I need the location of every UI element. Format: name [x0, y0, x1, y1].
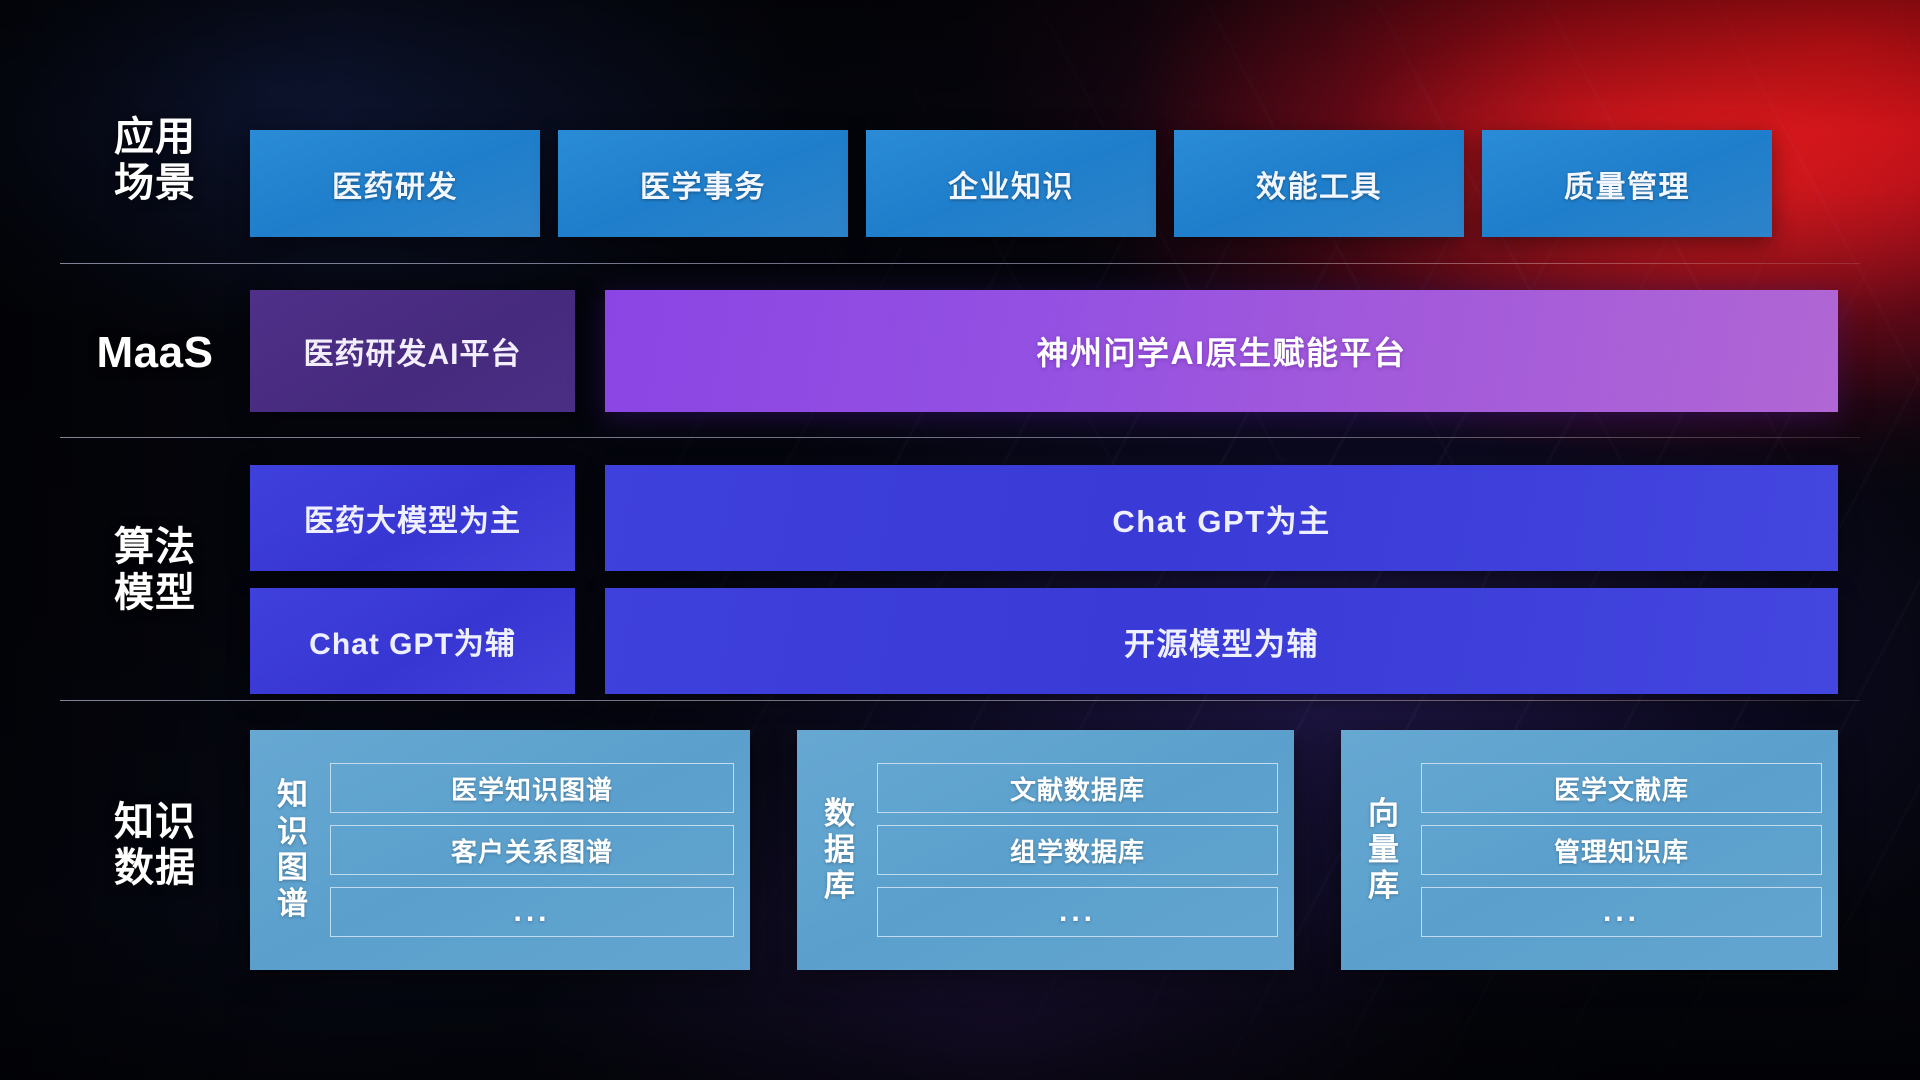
app-box-efficiency-tools[interactable]: 效能工具	[1174, 130, 1464, 237]
knowledge-item-omics-database[interactable]: 组学数据库	[877, 825, 1278, 875]
algorithm-model-boxes: 医药大模型为主 Chat GPT为主 Chat GPT为辅 开源模型为辅	[250, 465, 1838, 694]
knowledge-item-customer-relation-graph[interactable]: 客户关系图谱	[330, 825, 734, 875]
app-box-label: 医学事务	[640, 162, 766, 206]
row-label-maas: MaaS	[60, 328, 250, 378]
maas-box-drug-rd-ai-platform[interactable]: 医药研发AI平台	[250, 290, 575, 412]
knowledge-panel-database[interactable]: 数据库 文献数据库 组学数据库 ...	[797, 730, 1294, 970]
algorithm-box-label: 开源模型为辅	[1124, 619, 1319, 664]
knowledge-item-literature-database[interactable]: 文献数据库	[877, 763, 1278, 813]
divider-after-maas	[60, 437, 1860, 438]
knowledge-panel-item-list: 文献数据库 组学数据库 ...	[871, 763, 1278, 937]
algorithm-model-line-primary: 医药大模型为主 Chat GPT为主	[250, 465, 1838, 571]
knowledge-panel-vertical-label: 向量库	[1353, 796, 1415, 905]
app-box-enterprise-knowledge[interactable]: 企业知识	[866, 130, 1156, 237]
knowledge-panel-vertical-label: 数据库	[809, 796, 871, 905]
knowledge-panel-vector-store[interactable]: 向量库 医学文献库 管理知识库 ...	[1341, 730, 1838, 970]
knowledge-panel-knowledge-graph[interactable]: 知识图谱 医学知识图谱 客户关系图谱 ...	[250, 730, 750, 970]
row-label-application-scenarios: 应用场景	[60, 115, 250, 206]
app-box-label: 效能工具	[1256, 162, 1382, 206]
algorithm-box-pharma-llm-primary[interactable]: 医药大模型为主	[250, 465, 575, 571]
app-box-label: 医药研发	[332, 162, 458, 206]
knowledge-item-more[interactable]: ...	[1421, 887, 1822, 937]
algorithm-box-opensource-secondary[interactable]: 开源模型为辅	[605, 588, 1838, 694]
knowledge-panel-item-list: 医学知识图谱 客户关系图谱 ...	[324, 763, 734, 937]
knowledge-data-panels: 知识图谱 医学知识图谱 客户关系图谱 ... 数据库 文献数据库 组学数据库 .…	[250, 730, 1838, 970]
knowledge-item-management-knowledge-store[interactable]: 管理知识库	[1421, 825, 1822, 875]
architecture-diagram: 应用场景 医药研发 医学事务 企业知识 效能工具 质量管理 MaaS 医药研发A…	[0, 0, 1920, 1080]
application-scenario-boxes: 医药研发 医学事务 企业知识 效能工具 质量管理	[250, 130, 1772, 237]
divider-after-application-scenarios	[60, 263, 1860, 264]
algorithm-model-line-secondary: Chat GPT为辅 开源模型为辅	[250, 588, 1838, 694]
maas-box-label: 神州问学AI原生赋能平台	[1036, 328, 1406, 374]
app-box-medical-affairs[interactable]: 医学事务	[558, 130, 848, 237]
algorithm-box-label: Chat GPT为主	[1112, 496, 1330, 541]
algorithm-box-label: 医药大模型为主	[304, 496, 521, 540]
app-box-label: 质量管理	[1564, 162, 1690, 206]
knowledge-item-more[interactable]: ...	[877, 887, 1278, 937]
row-label-algorithm-models: 算法模型	[60, 525, 250, 616]
knowledge-item-medical-literature-store[interactable]: 医学文献库	[1421, 763, 1822, 813]
knowledge-panel-vertical-label: 知识图谱	[262, 777, 324, 922]
app-box-quality-management[interactable]: 质量管理	[1482, 130, 1772, 237]
algorithm-box-label: Chat GPT为辅	[309, 619, 516, 663]
knowledge-item-more[interactable]: ...	[330, 887, 734, 937]
divider-after-algorithm-models	[60, 700, 1860, 701]
knowledge-panel-item-list: 医学文献库 管理知识库 ...	[1415, 763, 1822, 937]
row-label-knowledge-data: 知识数据	[60, 800, 250, 891]
app-box-label: 企业知识	[948, 162, 1074, 206]
app-box-drug-rd[interactable]: 医药研发	[250, 130, 540, 237]
algorithm-box-chatgpt-primary[interactable]: Chat GPT为主	[605, 465, 1838, 571]
algorithm-box-chatgpt-secondary[interactable]: Chat GPT为辅	[250, 588, 575, 694]
maas-box-label: 医药研发AI平台	[304, 329, 522, 373]
maas-box-shenzhou-wenxue-platform[interactable]: 神州问学AI原生赋能平台	[605, 290, 1838, 412]
knowledge-item-medical-knowledge-graph[interactable]: 医学知识图谱	[330, 763, 734, 813]
maas-boxes: 医药研发AI平台 神州问学AI原生赋能平台	[250, 290, 1838, 412]
